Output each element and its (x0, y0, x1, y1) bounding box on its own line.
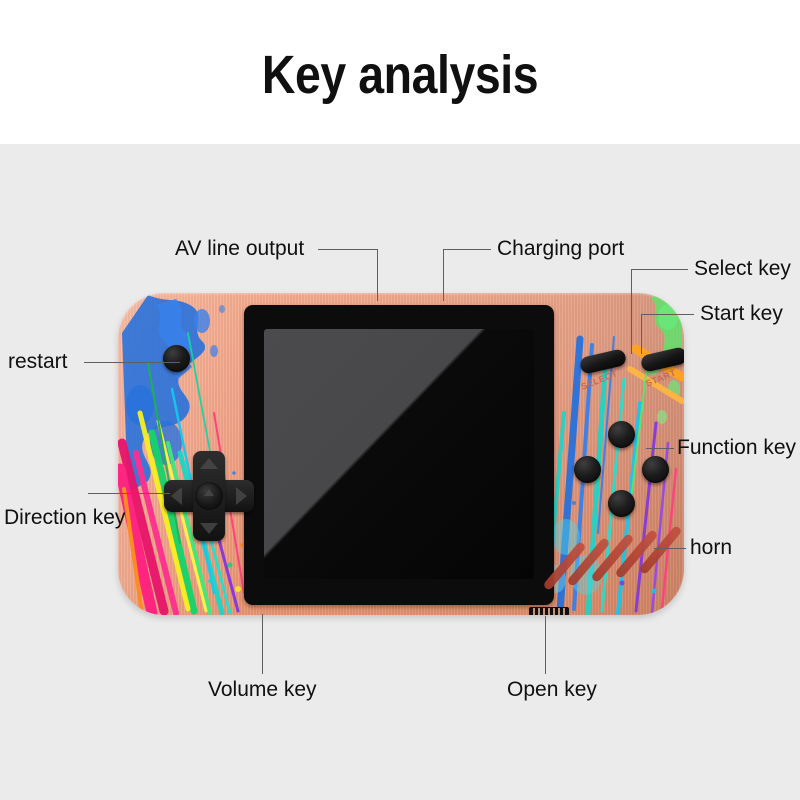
label-start-key: Start key (700, 302, 783, 326)
key-analysis-diagram: Key analysis (0, 0, 800, 800)
leader-horn (654, 548, 686, 549)
leader-direction-key (88, 493, 170, 494)
label-restart: restart (8, 350, 68, 374)
diagram-stage: SELECT START AV line output (0, 144, 800, 800)
label-charging-port: Charging port (497, 237, 624, 261)
leader-charging-port-h (443, 249, 491, 250)
leader-volume-key (262, 614, 263, 674)
screen-bezel (244, 305, 554, 605)
label-direction-key: Direction key (4, 506, 125, 530)
label-open-key: Open key (507, 678, 597, 702)
header: Key analysis (0, 0, 800, 144)
leader-start-key-h (642, 314, 694, 315)
leader-select-key-v (631, 269, 632, 354)
label-function-key: Function key (677, 436, 796, 460)
leader-av-line-output-h (318, 249, 378, 250)
dpad-left-arrow-icon[interactable] (171, 487, 182, 505)
dpad-center[interactable] (195, 482, 223, 510)
leader-charging-port-v (443, 249, 444, 301)
page-title: Key analysis (56, 44, 744, 106)
function-button-right[interactable] (642, 456, 669, 483)
dpad-up-arrow-icon[interactable] (200, 458, 218, 469)
open-key-switch[interactable] (529, 607, 569, 615)
leader-select-key-h (632, 269, 688, 270)
label-volume-key: Volume key (208, 678, 317, 702)
speaker-horn (560, 527, 684, 597)
function-button-bottom[interactable] (608, 490, 635, 517)
leader-restart (84, 362, 180, 363)
game-console-body: SELECT START (118, 293, 684, 615)
dpad-right-arrow-icon[interactable] (236, 487, 247, 505)
leader-function-key (646, 448, 674, 449)
restart-button[interactable] (163, 345, 190, 372)
direction-pad[interactable] (164, 451, 254, 541)
function-button-left[interactable] (574, 456, 601, 483)
dpad-down-arrow-icon[interactable] (200, 523, 218, 534)
label-select-key: Select key (694, 257, 791, 281)
leader-av-line-output-v (377, 249, 378, 301)
screen-display (264, 329, 534, 579)
leader-open-key (545, 616, 546, 674)
function-button-top[interactable] (608, 421, 635, 448)
label-av-line-output: AV line output (175, 237, 304, 261)
label-horn: horn (690, 536, 732, 560)
leader-start-key-v (641, 314, 642, 354)
